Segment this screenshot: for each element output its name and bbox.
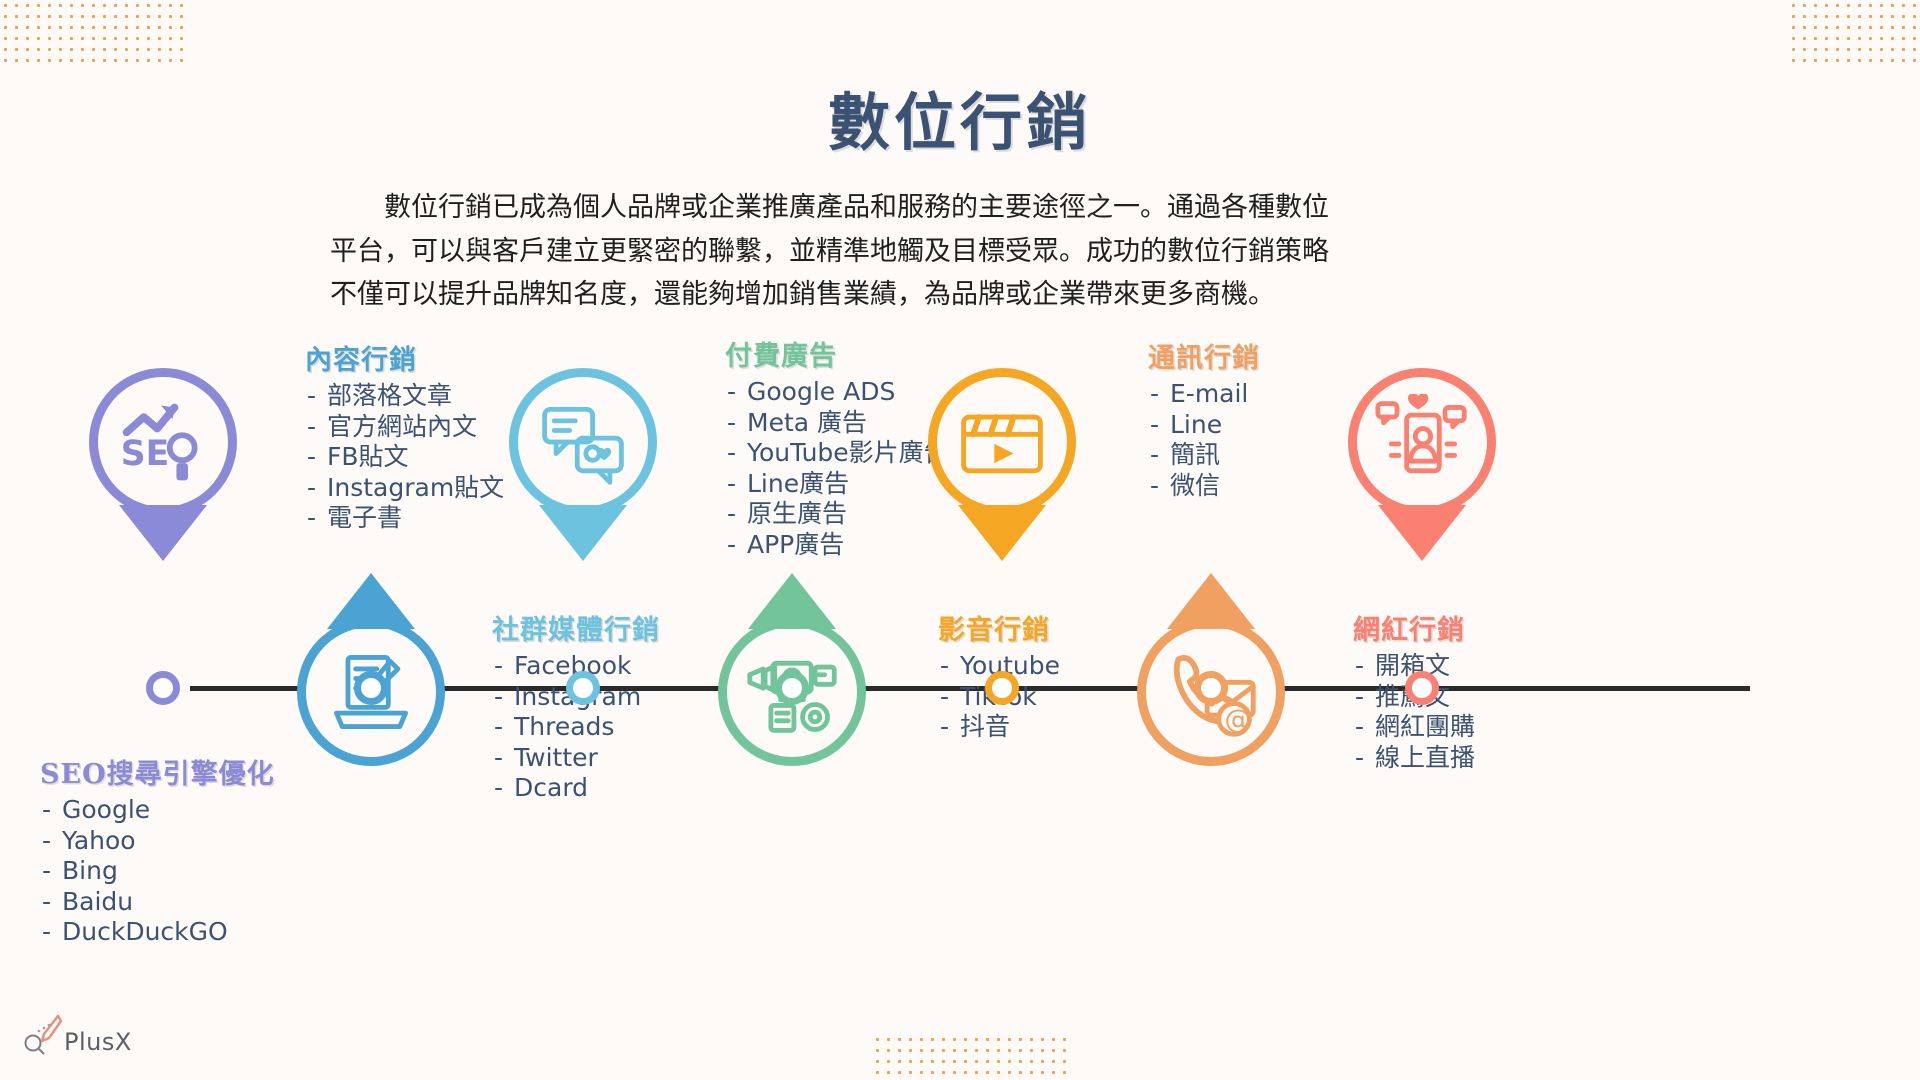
list-item: 部落格文章 (305, 381, 504, 412)
timeline-pin-influencer[interactable] (1348, 368, 1496, 516)
svg-text:@: @ (1224, 704, 1251, 735)
timeline-block-seo: SEO搜尋引擎優化GoogleYahooBingBaiduDuckDuckGO (40, 752, 275, 948)
timeline-node-dot-influencer[interactable] (1405, 671, 1439, 705)
list-item: 微信 (1148, 471, 1260, 502)
heading-social: 社群媒體行銷 (492, 608, 660, 647)
pin-tail-social (539, 505, 627, 561)
pin-tail-influencer (1378, 505, 1466, 561)
logo-text: PlusX (64, 1028, 132, 1056)
intro-line-3: 不僅可以提升品牌知名度，還能夠增加銷售業績，為品牌或企業帶來更多商機。 (330, 279, 1275, 310)
list-messaging: E-mailLine簡訊微信 (1148, 379, 1260, 501)
timeline-node-dot-paid-ads[interactable] (775, 671, 809, 705)
list-item: Baidu (40, 887, 275, 918)
pin-tail-messaging (1167, 573, 1255, 629)
intro-paragraph: 數位行銷已成為個人品牌或企業推廣產品和服務的主要途徑之一。通過各種數位 平台，可… (330, 186, 1600, 317)
list-item: 網紅團購 (1353, 712, 1475, 743)
intro-line-1: 數位行銷已成為個人品牌或企業推廣產品和服務的主要途徑之一。通過各種數位 (384, 192, 1329, 223)
list-item: 抖音 (938, 712, 1060, 743)
timeline-pin-video[interactable] (928, 368, 1076, 516)
list-item: 官方網站內文 (305, 412, 504, 443)
chat-bubbles-heart-icon (535, 394, 631, 490)
plusx-logo: PlusX (22, 1014, 132, 1056)
pin-circle-seo: SE (89, 368, 237, 516)
list-item: FB貼文 (305, 442, 504, 473)
list-item: YouTube影片廣告 (725, 438, 949, 469)
phone-person-heart-icon (1374, 394, 1470, 490)
seo-chart-magnifier-icon: SE (115, 394, 211, 490)
list-content: 部落格文章官方網站內文FB貼文Instagram貼文電子書 (305, 381, 504, 534)
list-item: Line (1148, 410, 1260, 441)
list-item: Line廣告 (725, 469, 949, 500)
timeline-node-dot-seo[interactable] (146, 671, 180, 705)
pin-tail-video (958, 505, 1046, 561)
pin-circle-influencer (1348, 368, 1496, 516)
heading-messaging: 通訊行銷 (1148, 336, 1260, 375)
list-item: 線上直播 (1353, 743, 1475, 774)
pin-circle-social (509, 368, 657, 516)
timeline-block-social: 社群媒體行銷FacebookInstagramThreadsTwitterDca… (492, 608, 660, 804)
pin-circle-video (928, 368, 1076, 516)
timeline-node-dot-social[interactable] (566, 671, 600, 705)
list-item: Google ADS (725, 377, 949, 408)
timeline-block-paid-ads: 付費廣告Google ADSMeta 廣告YouTube影片廣告Line廣告原生… (725, 334, 949, 560)
timeline-block-content: 內容行銷部落格文章官方網站內文FB貼文Instagram貼文電子書 (305, 338, 504, 534)
list-item: Meta 廣告 (725, 408, 949, 439)
video-play-clapper-icon (954, 394, 1050, 490)
heading-influencer: 網紅行銷 (1353, 608, 1475, 647)
timeline-node-dot-video[interactable] (985, 671, 1019, 705)
magnifier-pencil-icon (22, 1014, 62, 1056)
list-item: 電子書 (305, 503, 504, 534)
list-influencer: 開箱文推薦文網紅團購線上直播 (1353, 651, 1475, 773)
svg-text:SE: SE (121, 434, 169, 474)
heading-paid-ads: 付費廣告 (725, 334, 949, 373)
pin-tail-content (327, 573, 415, 629)
page-title: 數位行銷 (0, 72, 1920, 162)
pin-tail-seo (119, 505, 207, 561)
intro-line-2: 平台，可以與客戶建立更緊密的聯繫，並精準地觸及目標受眾。成功的數位行銷策略 (330, 236, 1329, 267)
pin-tail-paid-ads (748, 573, 836, 629)
dot-pattern-top-left (0, 0, 188, 64)
list-seo: GoogleYahooBingBaiduDuckDuckGO (40, 795, 275, 948)
list-item: Twitter (492, 743, 660, 774)
dot-pattern-bottom (872, 1034, 1072, 1080)
list-item: 原生廣告 (725, 499, 949, 530)
list-item: Threads (492, 712, 660, 743)
dot-pattern-top-right (1788, 0, 1920, 64)
list-item: Dcard (492, 773, 660, 804)
list-paid-ads: Google ADSMeta 廣告YouTube影片廣告Line廣告原生廣告AP… (725, 377, 949, 560)
list-item: APP廣告 (725, 530, 949, 561)
timeline-node-dot-messaging[interactable] (1194, 671, 1228, 705)
list-item: E-mail (1148, 379, 1260, 410)
heading-video: 影音行銷 (938, 608, 1060, 647)
list-item: Bing (40, 856, 275, 887)
heading-content: 內容行銷 (305, 338, 504, 377)
list-item: Yahoo (40, 826, 275, 857)
timeline-pin-seo[interactable]: SE (89, 368, 237, 516)
heading-seo: SEO搜尋引擎優化 (40, 752, 275, 791)
timeline-block-messaging: 通訊行銷E-mailLine簡訊微信 (1148, 336, 1260, 501)
list-item: Instagram貼文 (305, 473, 504, 504)
timeline-node-dot-content[interactable] (354, 671, 388, 705)
list-item: 簡訊 (1148, 440, 1260, 471)
timeline-pin-social[interactable] (509, 368, 657, 516)
list-item: DuckDuckGO (40, 917, 275, 948)
list-item: Google (40, 795, 275, 826)
